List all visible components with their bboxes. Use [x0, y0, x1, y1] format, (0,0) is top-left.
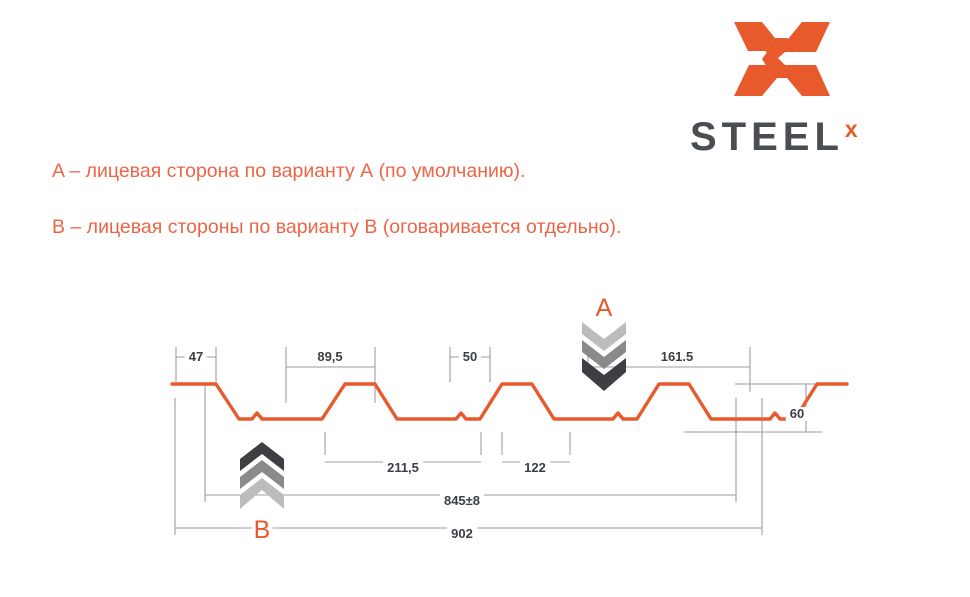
sheet-profile-outline [172, 384, 847, 419]
marker-a-chevrons [582, 322, 626, 391]
dimension-label-161-5: 161.5 [657, 350, 698, 364]
profile-path [172, 384, 847, 419]
dimension-label-122: 122 [520, 461, 550, 475]
marker-label-b: B [252, 517, 273, 543]
profile-technical-drawing [0, 0, 970, 597]
dimension-label-89-5: 89,5 [313, 350, 346, 364]
dimension-label-902: 902 [447, 527, 477, 541]
dimension-label-60: 60 [786, 407, 808, 421]
dimension-label-50: 50 [459, 350, 481, 364]
dimension-label-47: 47 [185, 350, 207, 364]
dimension-label-845: 845±8 [440, 494, 484, 508]
marker-b-chevrons [240, 442, 284, 509]
dimension-label-211-5: 211,5 [383, 461, 423, 475]
dimension-lines [175, 347, 822, 535]
marker-label-a: A [594, 295, 615, 321]
